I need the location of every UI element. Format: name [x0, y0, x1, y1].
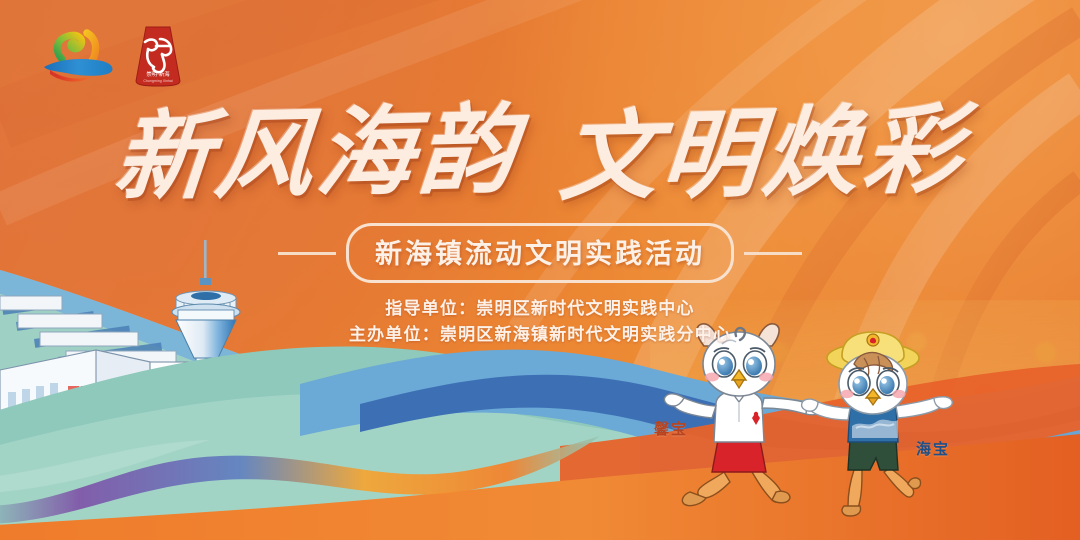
guiding-unit-line: 指导单位：崇明区新时代文明实践中心 [0, 296, 1080, 322]
poster-subtitle: 新海镇流动文明实践活动 [346, 223, 734, 283]
chongming-xinhai-fu-logo[interactable]: 崇明·新海 Chongming Xinhai [132, 24, 184, 88]
subtitle-dash-right [744, 252, 802, 255]
hosting-unit-line: 主办单位：崇明区新海镇新时代文明实践分中心 [0, 322, 1080, 348]
poster-subtitle-row: 新海镇流动文明实践活动 [0, 223, 1080, 283]
poster-canvas: 馨宝 海宝 [0, 0, 1080, 540]
organizer-credits: 指导单位：崇明区新时代文明实践中心 主办单位：崇明区新海镇新时代文明实践分中心 [0, 296, 1080, 348]
mascot-group [660, 322, 970, 522]
mascot-haibao-label: 海宝 [916, 438, 950, 459]
xiang-swoosh-logo[interactable] [40, 27, 118, 85]
subtitle-dash-left [278, 252, 336, 255]
fu-logo-cn-text: 崇明·新海 [146, 70, 170, 78]
mascot-haibao [802, 332, 953, 516]
fu-logo-en-text: Chongming Xinhai [143, 79, 173, 83]
mascot-xinbao-label: 馨宝 [654, 418, 688, 439]
mascot-xinbao [664, 324, 824, 506]
logo-bar: 崇明·新海 Chongming Xinhai [40, 24, 184, 88]
